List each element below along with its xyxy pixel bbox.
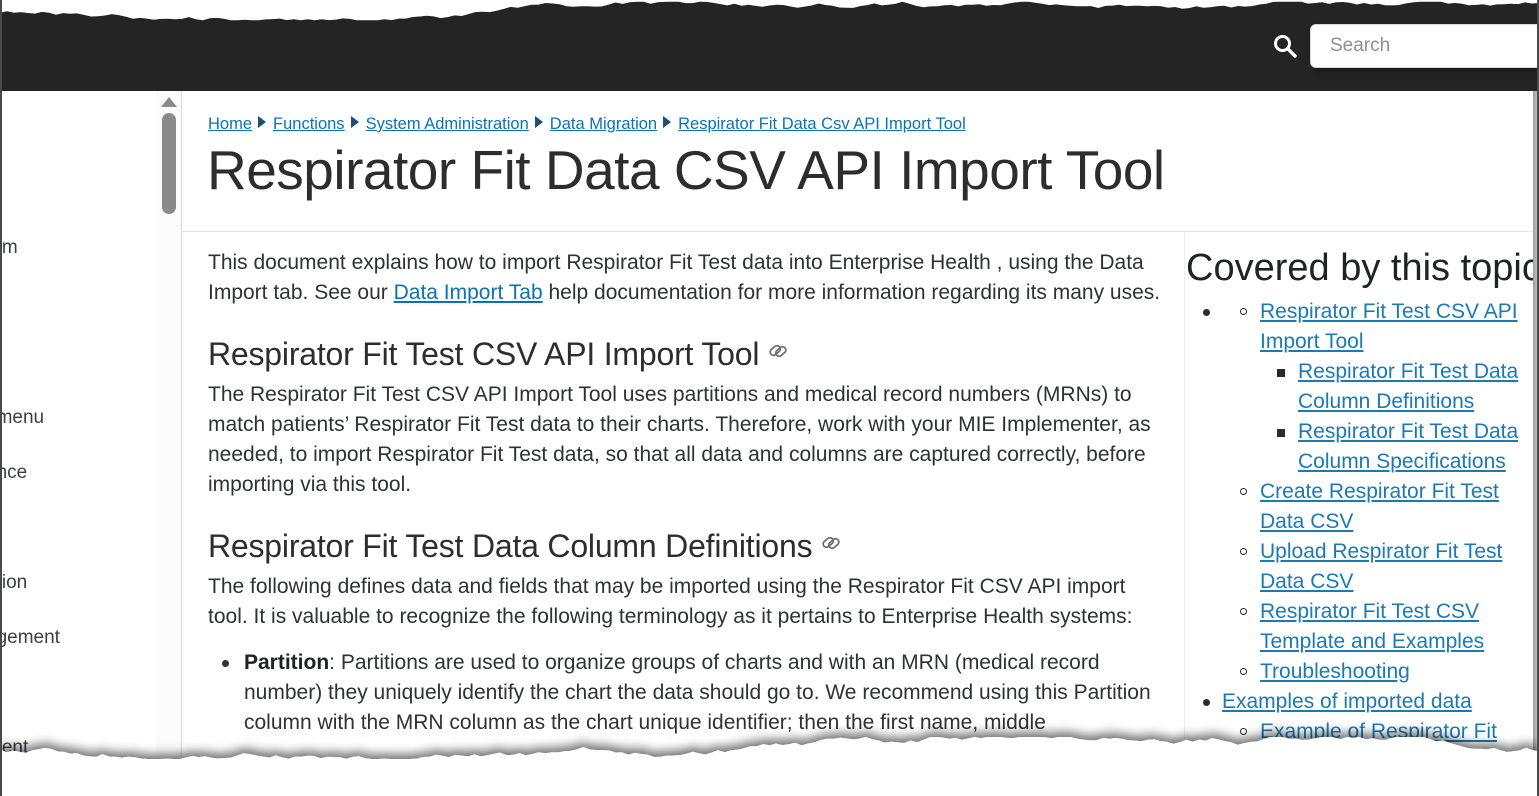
breadcrumb-item-1[interactable]: Home — [208, 115, 252, 133]
intro-paragraph: This document explains how to import Res… — [208, 248, 1163, 308]
toc-link[interactable]: Examples of imported data — [1222, 690, 1472, 713]
section-2-paragraph: The following defines data and fields th… — [208, 572, 1163, 632]
list-item: Partition: Partitions are used to organi… — [242, 648, 1163, 738]
sidebar-item-3[interactable]: emenu — [0, 407, 44, 429]
toc-link[interactable]: Respirator Fit Test CSV Template and Exa… — [1260, 600, 1484, 653]
toc-divider — [1184, 232, 1185, 796]
breadcrumb-item-3[interactable]: System Administration — [366, 115, 529, 133]
top-header-bar — [0, 0, 1539, 91]
sidebar-item-4[interactable]: ence — [0, 462, 27, 484]
sidebar-item-1[interactable]: tem — [0, 237, 18, 259]
toc-column: Covered by this topic Respirator Fit Tes… — [1186, 232, 1539, 796]
section-1-paragraph: The Respirator Fit Test CSV API Import T… — [208, 380, 1163, 500]
breadcrumb-item-5[interactable]: Respirator Fit Data Csv API Import Tool — [678, 115, 966, 133]
sidebar-scrollbar[interactable] — [156, 91, 182, 796]
definition-term: Partition — [244, 651, 329, 674]
triangle-right-icon — [535, 116, 543, 128]
article-column: This document explains how to import Res… — [208, 248, 1163, 744]
toc-item: Respirator Fit Test Data Column Definiti… — [1298, 357, 1539, 417]
left-sidebar-nav: temdemenuenceationagementment — [0, 91, 157, 796]
breadcrumb-item-2[interactable]: Functions — [273, 115, 345, 133]
toc-link[interactable]: Upload Respirator Fit Test Data CSV — [1260, 540, 1502, 593]
triangle-right-icon — [663, 116, 671, 128]
definition-list: Partition: Partitions are used to organi… — [208, 648, 1163, 738]
data-import-tab-link[interactable]: Data Import Tab — [394, 281, 543, 304]
header-right-group — [1268, 0, 1539, 91]
toc-link[interactable]: Create Respirator Fit Test Data CSV — [1260, 480, 1499, 533]
toc-link[interactable]: Respirator Fit Test Data Column Specific… — [1298, 420, 1518, 473]
toc-item: Respirator Fit Test CSV API Import ToolR… — [1222, 297, 1539, 687]
intro-text-after: help documentation for more information … — [543, 281, 1160, 304]
sidebar-item-7[interactable]: ment — [0, 737, 28, 759]
page-root: temdemenuenceationagementment HomeFuncti… — [0, 0, 1539, 796]
main-content-pane: HomeFunctionsSystem AdministrationData M… — [181, 91, 1539, 796]
toc-level-2: Respirator Fit Test CSV API Import ToolR… — [1222, 297, 1539, 687]
toc-item: Respirator Fit Test Data Column Specific… — [1298, 417, 1539, 477]
section-heading-1: Respirator Fit Test CSV API Import Tool — [208, 334, 1163, 374]
section-heading-1-text: Respirator Fit Test CSV API Import Tool — [208, 336, 759, 372]
toc-item: Upload Respirator Fit Test Data CSV — [1260, 537, 1539, 597]
toc-link[interactable]: Example of Respirator Fit Test data that… — [1260, 720, 1518, 796]
toc-item: Create Respirator Fit Test Data CSV — [1260, 477, 1539, 537]
triangle-right-icon — [351, 116, 359, 128]
search-icon[interactable] — [1268, 29, 1302, 63]
toc-level-2: Example of Respirator Fit Test data that… — [1222, 717, 1539, 796]
link-anchor-icon[interactable] — [821, 533, 841, 553]
section-heading-2: Respirator Fit Test Data Column Definiti… — [208, 526, 1163, 566]
search-box[interactable] — [1310, 24, 1539, 68]
toc-item: Examples of imported dataExample of Resp… — [1222, 687, 1539, 796]
toc-level-1: Respirator Fit Test CSV API Import ToolR… — [1186, 297, 1539, 796]
breadcrumb-item-4[interactable]: Data Migration — [550, 115, 657, 133]
toc-tree: Respirator Fit Test CSV API Import ToolR… — [1186, 297, 1539, 796]
triangle-right-icon — [258, 116, 266, 128]
search-input[interactable] — [1328, 34, 1538, 58]
toc-link[interactable]: Respirator Fit Test Data Column Definiti… — [1298, 360, 1518, 413]
toc-link[interactable]: Troubleshooting — [1260, 660, 1410, 683]
breadcrumb: HomeFunctionsSystem AdministrationData M… — [208, 115, 966, 134]
toc-link[interactable]: Respirator Fit Test CSV API Import Tool — [1260, 300, 1518, 353]
sidebar-item-5[interactable]: ation — [0, 572, 27, 594]
page-edge-left — [0, 0, 2, 796]
toc-item: Respirator Fit Test CSV API Import ToolR… — [1260, 297, 1539, 477]
link-anchor-icon[interactable] — [768, 341, 788, 361]
scroll-up-arrow-icon[interactable] — [161, 97, 177, 107]
scrollbar-thumb[interactable] — [162, 113, 176, 214]
toc-title: Covered by this topic — [1186, 245, 1539, 291]
section-heading-2-text: Respirator Fit Test Data Column Definiti… — [208, 528, 812, 564]
toc-level-3: Respirator Fit Test Data Column Definiti… — [1260, 357, 1539, 477]
toc-item: Respirator Fit Test CSV Template and Exa… — [1260, 597, 1539, 657]
toc-item: Example of Respirator Fit Test data that… — [1260, 717, 1539, 796]
toc-item: Troubleshooting — [1260, 657, 1539, 687]
page-title: Respirator Fit Data CSV API Import Tool — [207, 139, 1165, 201]
sidebar-item-6[interactable]: agement — [0, 627, 60, 649]
definition-text: : Partitions are used to organize groups… — [244, 651, 1151, 734]
